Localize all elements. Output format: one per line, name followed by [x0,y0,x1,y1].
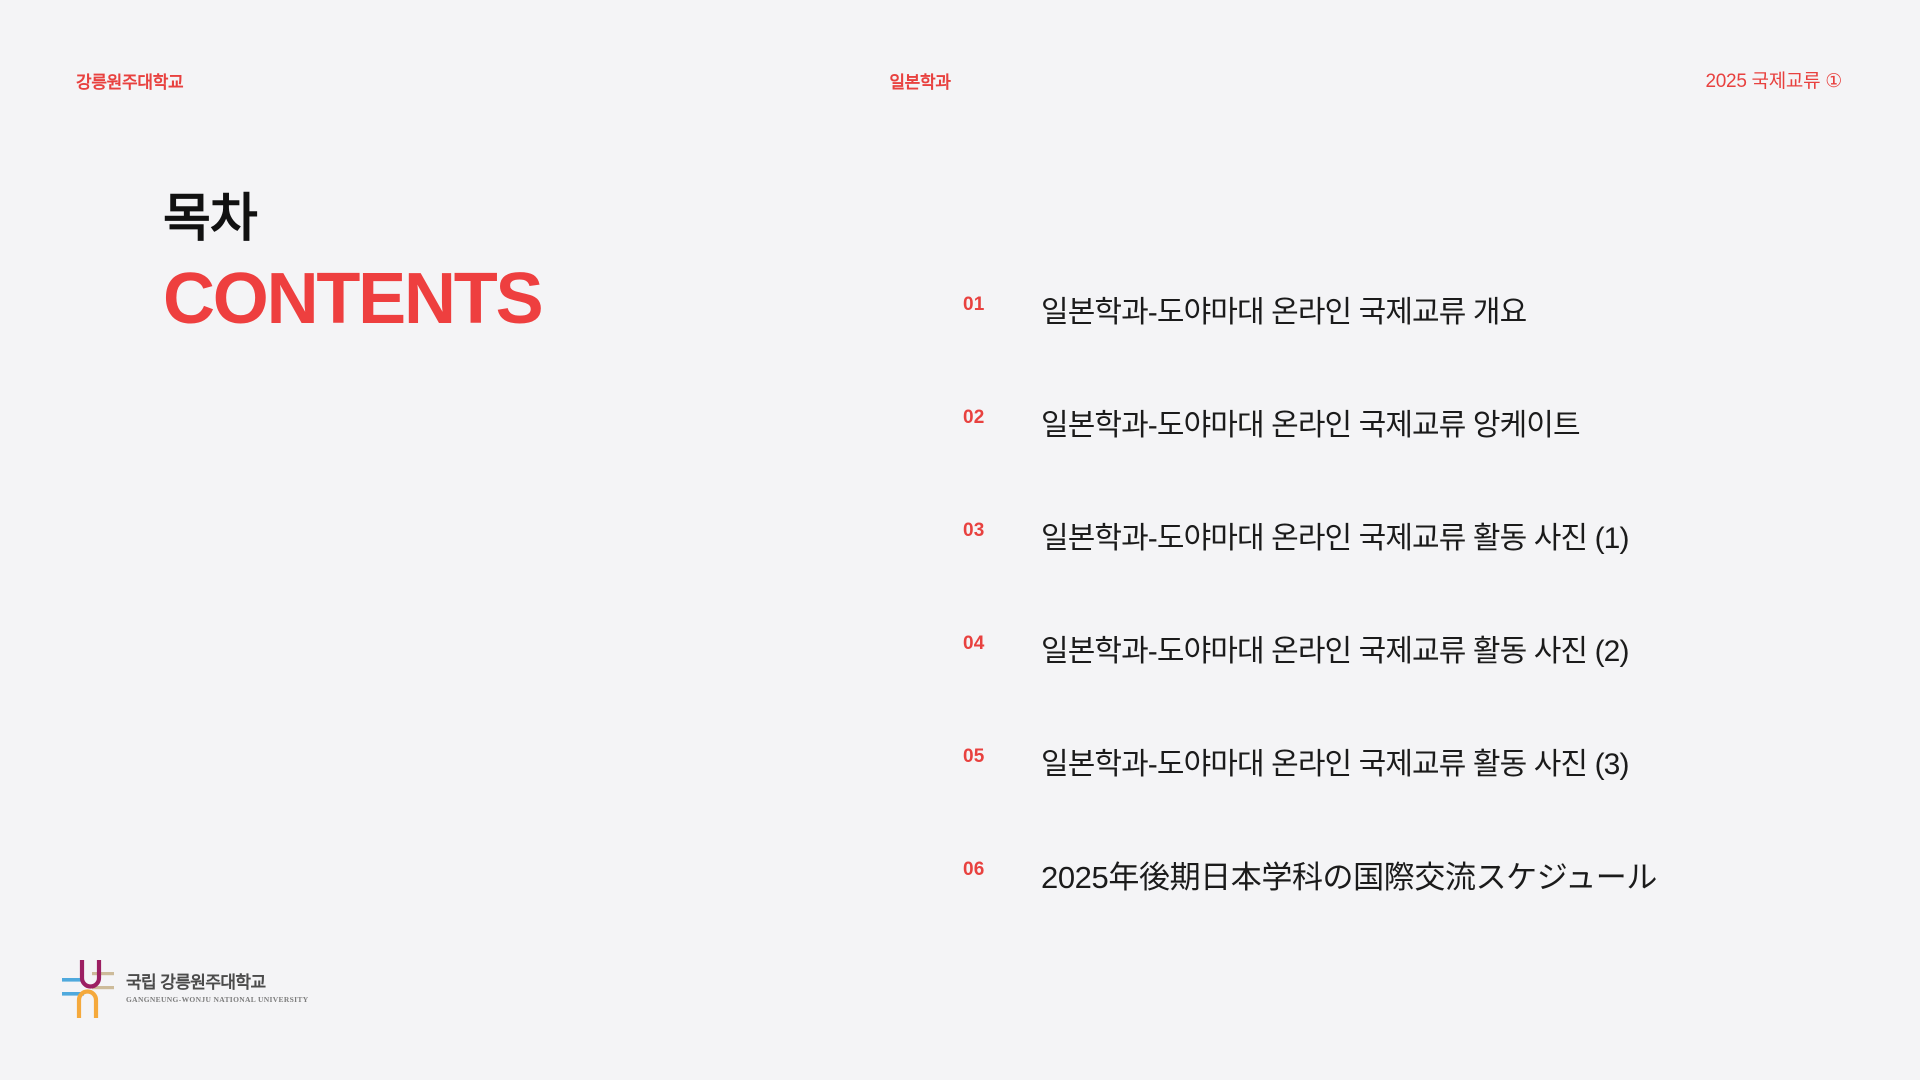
presentation-slide: 강릉원주대학교 일본학과 2025 국제교류 ① 목차 CONTENTS 01 … [0,0,1920,1080]
list-item[interactable]: 01 일본학과-도야마대 온라인 국제교류 개요 [963,288,1863,401]
table-of-contents: 01 일본학과-도야마대 온라인 국제교류 개요 02 일본학과-도야마대 온라… [963,288,1863,966]
list-item-number: 05 [963,746,985,768]
header-department-name: 일본학과 [0,68,1880,93]
header-topic-label: 2025 국제교류 ① [1706,66,1842,93]
list-item-number: 01 [963,294,985,316]
list-item[interactable]: 03 일본학과-도야마대 온라인 국제교류 활동 사진 (1) [963,514,1863,627]
list-item-number: 02 [963,407,985,429]
list-item[interactable]: 04 일본학과-도야마대 온라인 국제교류 활동 사진 (2) [963,627,1863,740]
page-title-korean: 목차 [163,192,541,247]
list-item[interactable]: 02 일본학과-도야마대 온라인 국제교류 앙케이트 [963,401,1863,514]
university-logo: 국립 강릉원주대학교 GANGNEUNG-WONJU NATIONAL UNIV… [62,956,309,1022]
list-item-label: 일본학과-도야마대 온라인 국제교류 활동 사진 (1) [1041,513,1629,557]
list-item-number: 04 [963,633,985,655]
slide-header: 강릉원주대학교 일본학과 2025 국제교류 ① [0,68,1920,98]
university-logo-text: 국립 강릉원주대학교 GANGNEUNG-WONJU NATIONAL UNIV… [126,974,309,1005]
list-item-label: 일본학과-도야마대 온라인 국제교류 활동 사진 (3) [1041,739,1629,783]
university-logo-korean: 국립 강릉원주대학교 [126,974,309,993]
list-item[interactable]: 06 2025年後期日本学科の国際交流スケジュール [963,853,1863,966]
list-item-label: 일본학과-도야마대 온라인 국제교류 앙케이트 [1041,400,1580,444]
list-item-label: 2025年後期日本学科の国際交流スケジュール [1041,852,1657,897]
list-item-label: 일본학과-도야마대 온라인 국제교류 활동 사진 (2) [1041,626,1629,670]
list-item[interactable]: 05 일본학과-도야마대 온라인 국제교류 활동 사진 (3) [963,740,1863,853]
list-item-number: 06 [963,859,985,881]
university-emblem-icon [62,956,114,1022]
list-item-label: 일본학과-도야마대 온라인 국제교류 개요 [1041,287,1526,331]
page-title-english: CONTENTS [163,263,541,335]
page-title-block: 목차 CONTENTS [163,192,541,335]
list-item-number: 03 [963,520,985,542]
university-logo-english: GANGNEUNG-WONJU NATIONAL UNIVERSITY [126,995,309,1004]
